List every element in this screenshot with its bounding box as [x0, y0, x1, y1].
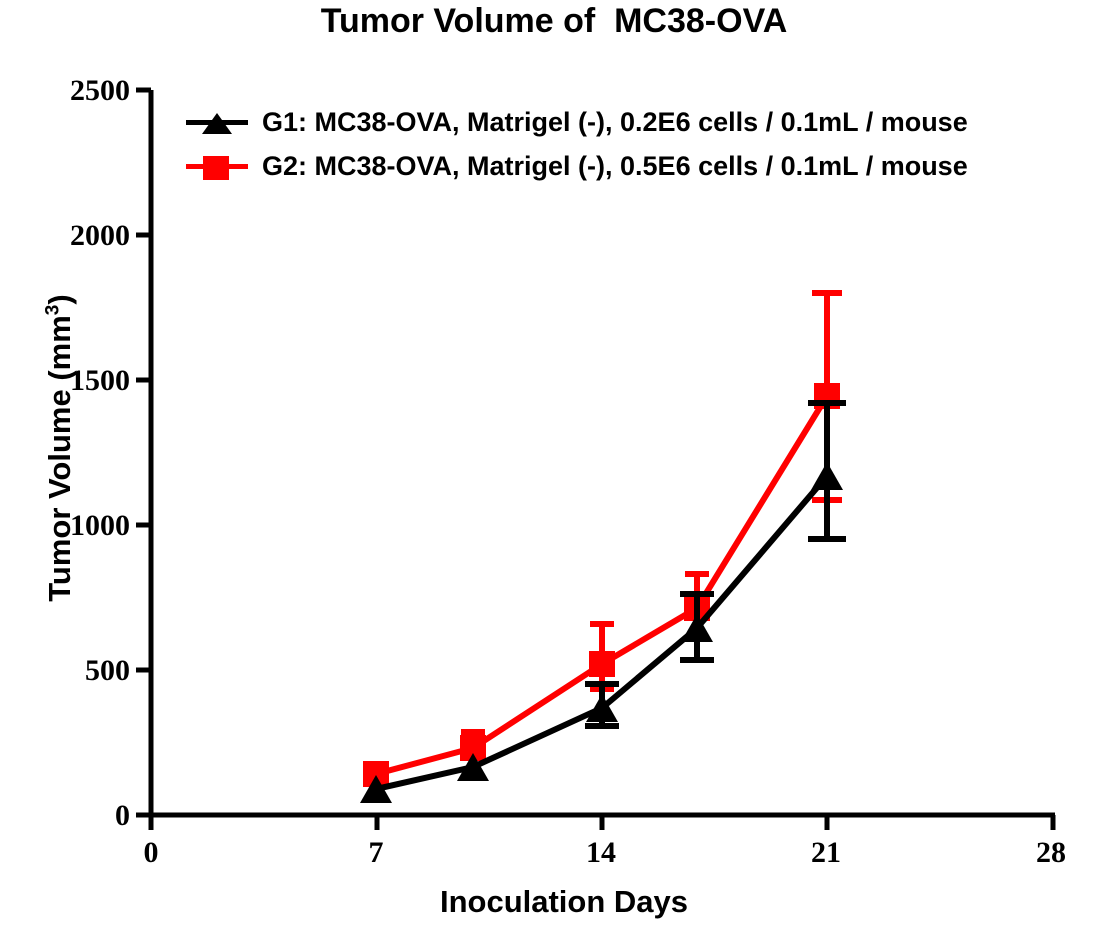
series-g1-error-bars — [585, 403, 846, 726]
chart-figure: Tumor Volume of MC38-OVA Tumor Volume (m… — [0, 0, 1108, 933]
series-g2-error-bars — [461, 293, 842, 748]
plot-area — [0, 0, 1108, 933]
series-g1 — [360, 403, 846, 803]
